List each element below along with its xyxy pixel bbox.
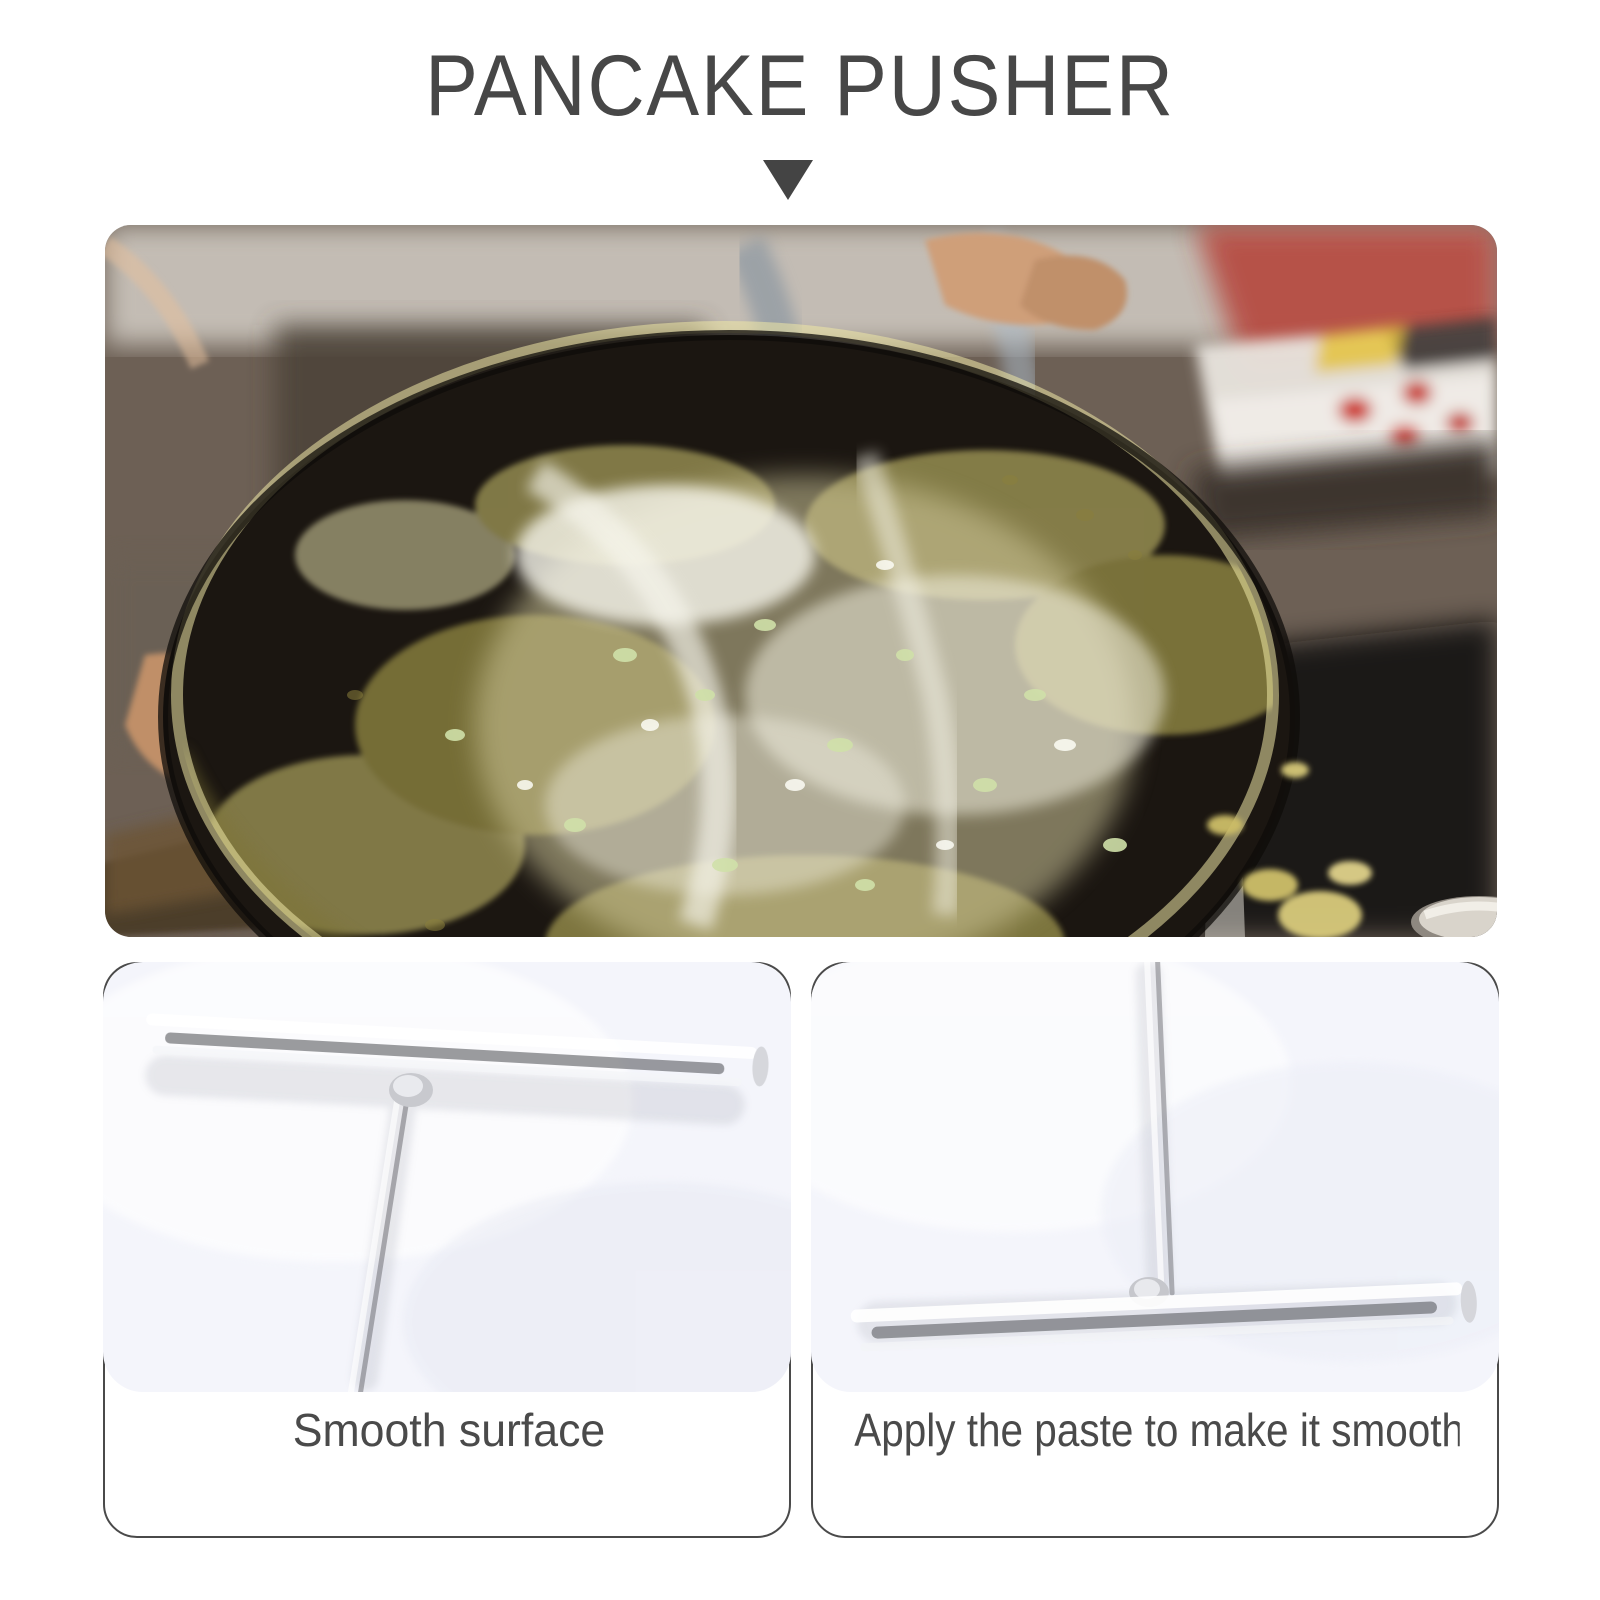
card-caption-right: Apply the paste to make it smooth [854, 1394, 1459, 1466]
card-apply-paste: Apply the paste to make it smooth [811, 962, 1499, 1538]
pancake-pusher-tool-bottom-bar-photo [811, 962, 1499, 1392]
pancake-cooking-photo [105, 225, 1497, 937]
card-caption-left: Smooth surface [115, 1394, 782, 1466]
card-smooth-surface: Smooth surface [103, 962, 791, 1538]
pancake-pusher-tool-top-bar-photo [103, 962, 791, 1392]
page-title: PANCAKE PUSHER [64, 38, 1536, 134]
triangle-down-icon [763, 160, 813, 200]
